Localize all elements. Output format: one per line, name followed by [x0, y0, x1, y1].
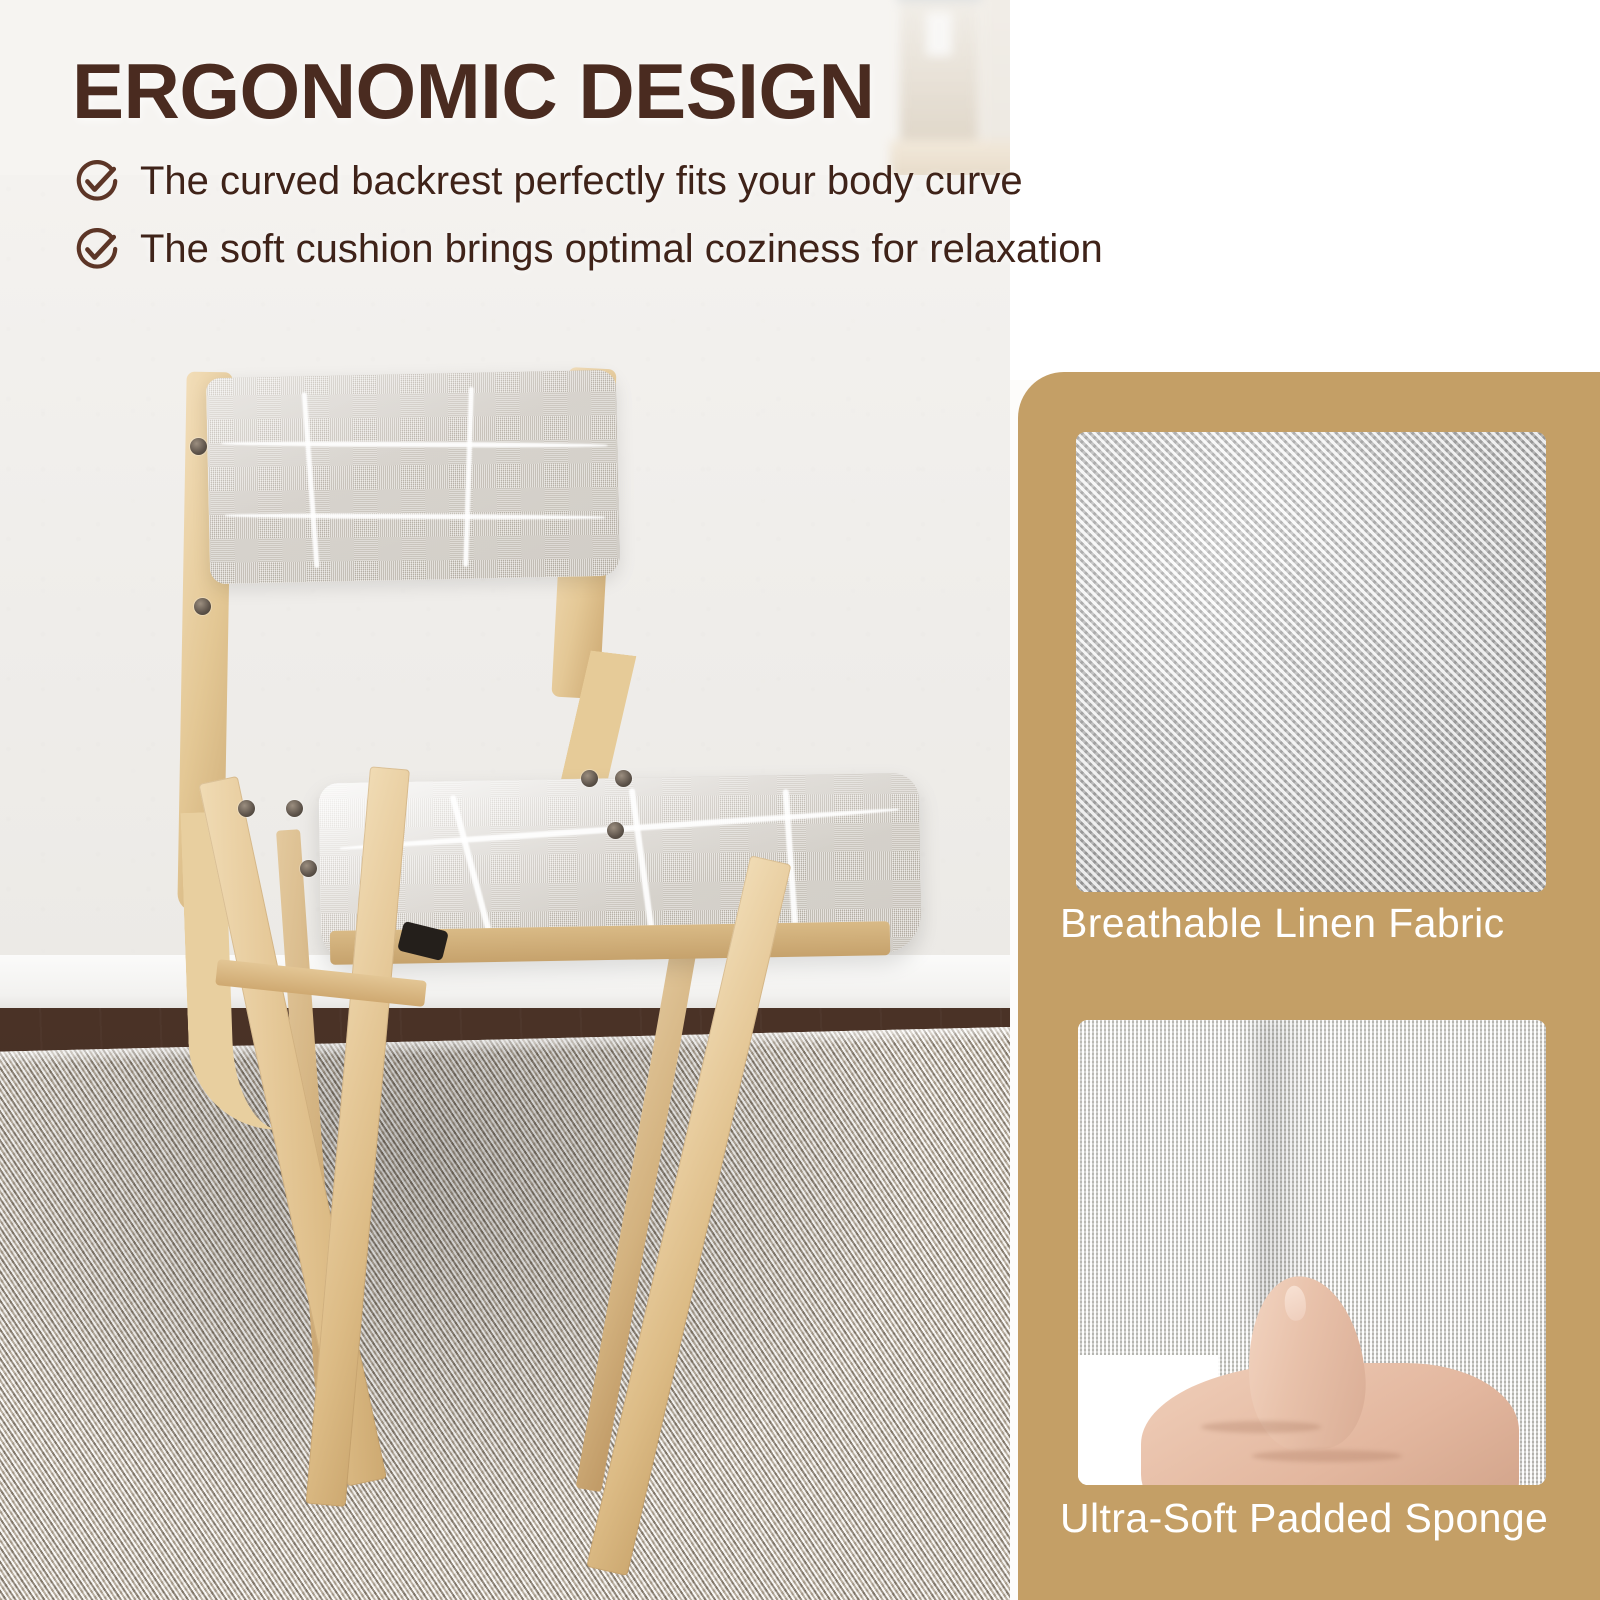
check-circle-icon	[74, 158, 120, 204]
chair-screw-6	[238, 800, 255, 817]
hand-pinching-fabric	[1106, 1271, 1537, 1485]
marketing-infographic: Breathable Linen Fabric Ultra-Soft Padde…	[0, 0, 1600, 1600]
feature-card-sponge-label: Ultra-Soft Padded Sponge	[1060, 1495, 1548, 1542]
jar-lid	[896, 0, 982, 2]
chair-screw-5	[607, 822, 624, 839]
chair-screw-4	[615, 770, 632, 787]
feature-card-linen-photo	[1076, 432, 1546, 892]
bullet-item-2: The soft cushion brings optimal coziness…	[74, 226, 1224, 272]
chair-backrest-cushion	[206, 370, 620, 585]
bullet-item-1: The curved backrest perfectly fits your …	[74, 158, 1224, 204]
jar-tag	[926, 12, 952, 56]
feature-card-sponge-photo	[1078, 1020, 1546, 1485]
linen-photo-vignette	[1076, 432, 1546, 892]
chair-screw-2	[194, 598, 211, 615]
chair-screw-7	[286, 800, 303, 817]
bullet-item-2-text: The soft cushion brings optimal coziness…	[140, 228, 1103, 270]
page-title: ERGONOMIC DESIGN	[72, 52, 1072, 130]
knuckle-crease-2	[1252, 1450, 1402, 1462]
check-circle-icon	[74, 226, 120, 272]
thumbnail	[1283, 1285, 1307, 1322]
feature-card-linen-label: Breathable Linen Fabric	[1060, 900, 1505, 947]
bullet-item-1-text: The curved backrest perfectly fits your …	[140, 160, 1023, 202]
backrest-highlight	[206, 370, 620, 585]
chair-screw-3	[581, 770, 598, 787]
chair-screw-1	[190, 438, 207, 455]
feature-bullet-list: The curved backrest perfectly fits your …	[74, 158, 1224, 294]
chair-screw-8	[300, 860, 317, 877]
folding-chair	[90, 360, 970, 1520]
knuckle-crease-1	[1201, 1421, 1321, 1433]
